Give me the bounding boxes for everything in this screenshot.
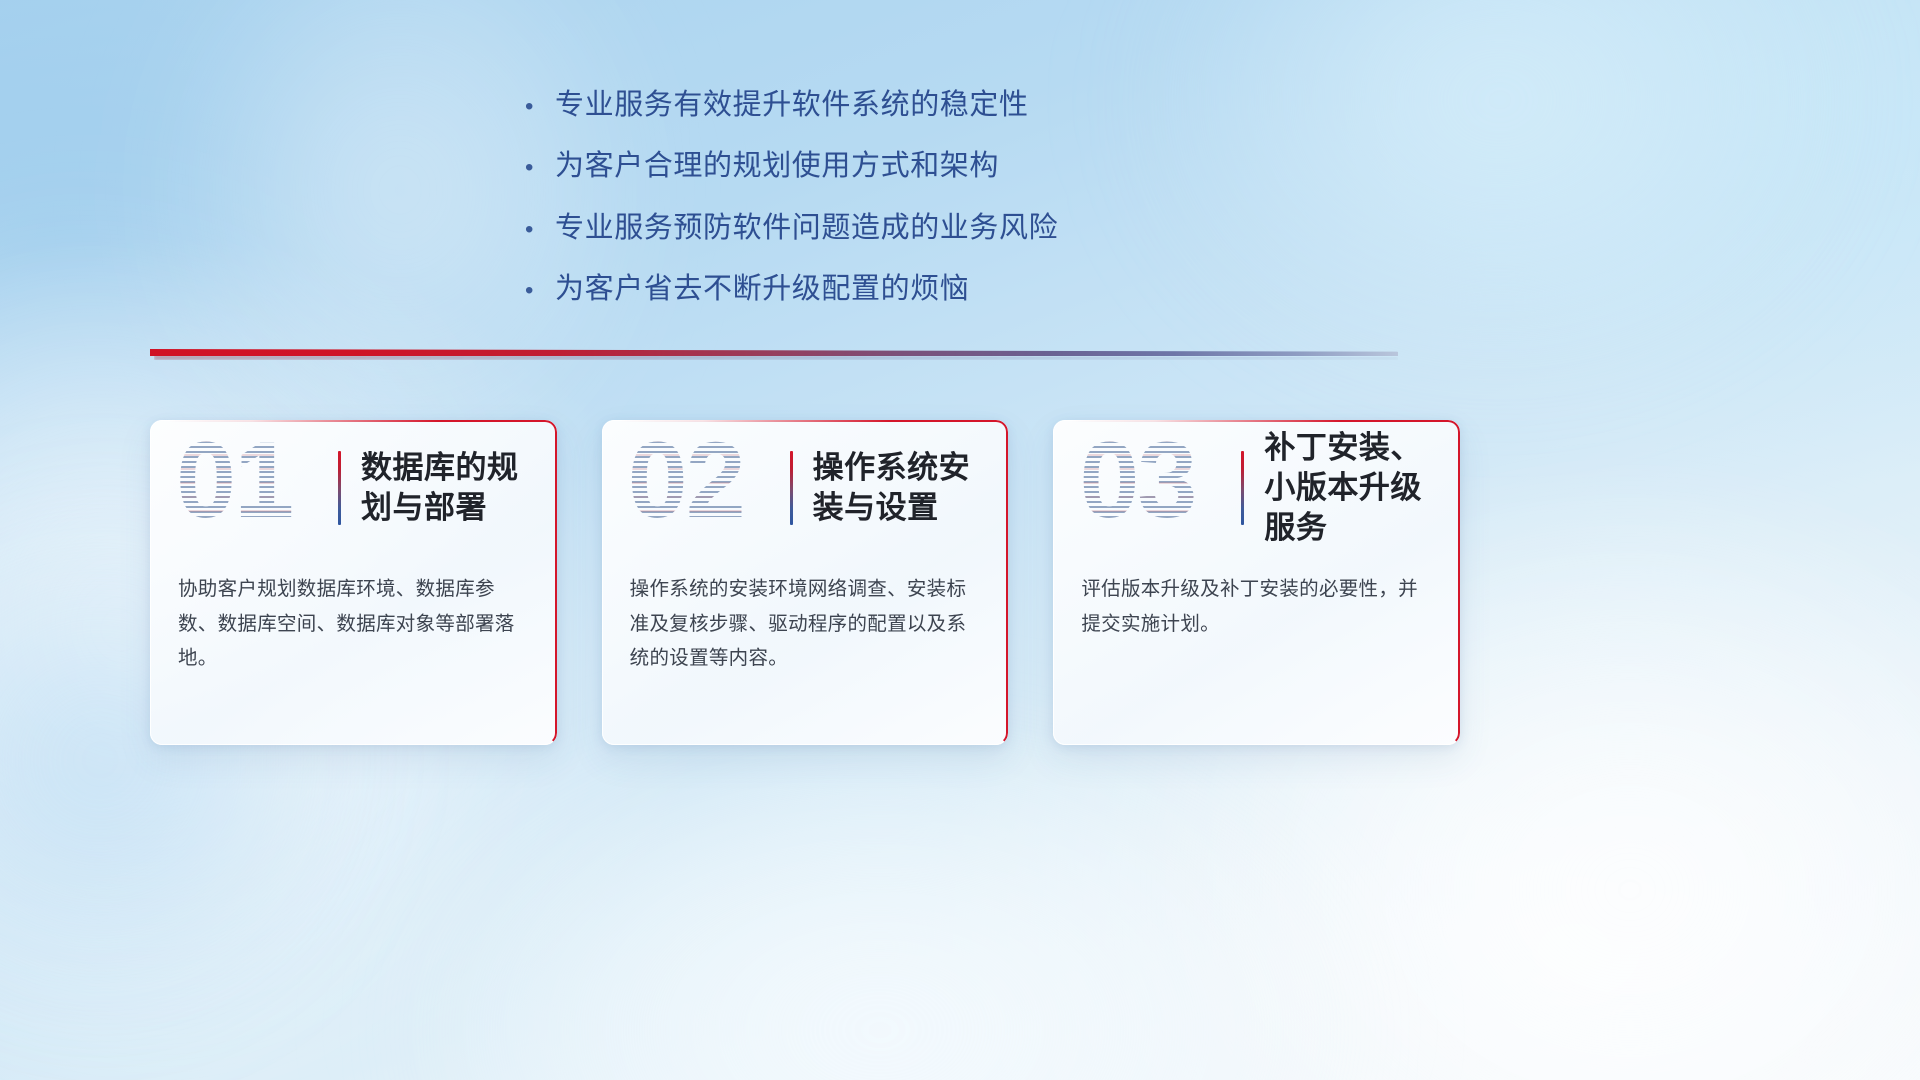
slide-canvas: • 专业服务有效提升软件系统的稳定性 • 为客户合理的规划使用方式和架构 • 专… xyxy=(0,0,1920,1080)
bullet-text: 专业服务预防软件问题造成的业务风险 xyxy=(555,209,1058,247)
card-accent-rule xyxy=(1241,451,1244,525)
card-description: 操作系统的安装环境网络调查、安装标准及复核步骤、驱动程序的配置以及系统的设置等内… xyxy=(602,532,1009,704)
card-header: 01 01 数据库的规划与部署 xyxy=(150,420,557,532)
bullet-dot-icon: • xyxy=(525,95,555,119)
card-description: 评估版本升级及补丁安装的必要性，并提交实施计划。 xyxy=(1053,532,1460,669)
card-title: 操作系统安装与设置 xyxy=(813,448,983,529)
list-item: • 专业服务预防软件问题造成的业务风险 xyxy=(525,209,1425,247)
card-number-graphic: 01 01 xyxy=(176,436,328,540)
bullet-dot-icon: • xyxy=(525,218,555,242)
bullet-dot-icon: • xyxy=(525,279,555,303)
card-header: 03 03 补丁安装、小版本升级服务 xyxy=(1053,420,1460,532)
card-number-graphic: 03 03 xyxy=(1079,436,1231,540)
list-item: • 专业服务有效提升软件系统的稳定性 xyxy=(525,86,1425,124)
bullet-text: 为客户合理的规划使用方式和架构 xyxy=(555,147,999,185)
list-item: • 为客户省去不断升级配置的烦恼 xyxy=(525,270,1425,308)
background-glow-bottom xyxy=(380,720,1380,1080)
card-number-graphic: 02 02 xyxy=(628,436,780,540)
card-title: 补丁安装、小版本升级服务 xyxy=(1264,428,1434,549)
card-accent-rule xyxy=(338,451,341,525)
card-accent-rule xyxy=(790,451,793,525)
divider-bar xyxy=(150,349,1398,356)
card-header: 02 02 操作系统安装与设置 xyxy=(602,420,1009,532)
card-number-text-overlay: 03 xyxy=(1079,426,1195,534)
card-title: 数据库的规划与部署 xyxy=(361,448,531,529)
service-card-03[interactable]: 03 03 补丁安装、小版本升级服务 评估版本升级及补丁安装的必要性，并提交实施… xyxy=(1053,420,1460,745)
service-card-02[interactable]: 02 02 操作系统安装与设置 操作系统的安装环境网络调查、安装标准及复核步骤、… xyxy=(602,420,1009,745)
card-number-text-overlay: 02 xyxy=(628,426,744,534)
list-item: • 为客户合理的规划使用方式和架构 xyxy=(525,147,1425,185)
bullet-text: 为客户省去不断升级配置的烦恼 xyxy=(555,270,969,308)
service-card-group: 01 01 数据库的规划与部署 协助客户规划数据库环境、数据库参数、数据库空间、… xyxy=(150,420,1460,745)
benefits-bullet-list: • 专业服务有效提升软件系统的稳定性 • 为客户合理的规划使用方式和架构 • 专… xyxy=(525,86,1425,331)
bullet-dot-icon: • xyxy=(525,156,555,180)
bullet-text: 专业服务有效提升软件系统的稳定性 xyxy=(555,86,1029,124)
section-divider xyxy=(150,345,1398,363)
card-description: 协助客户规划数据库环境、数据库参数、数据库空间、数据库对象等部署落地。 xyxy=(150,532,557,704)
card-number-text-overlay: 01 xyxy=(176,426,292,534)
service-card-01[interactable]: 01 01 数据库的规划与部署 协助客户规划数据库环境、数据库参数、数据库空间、… xyxy=(150,420,557,745)
